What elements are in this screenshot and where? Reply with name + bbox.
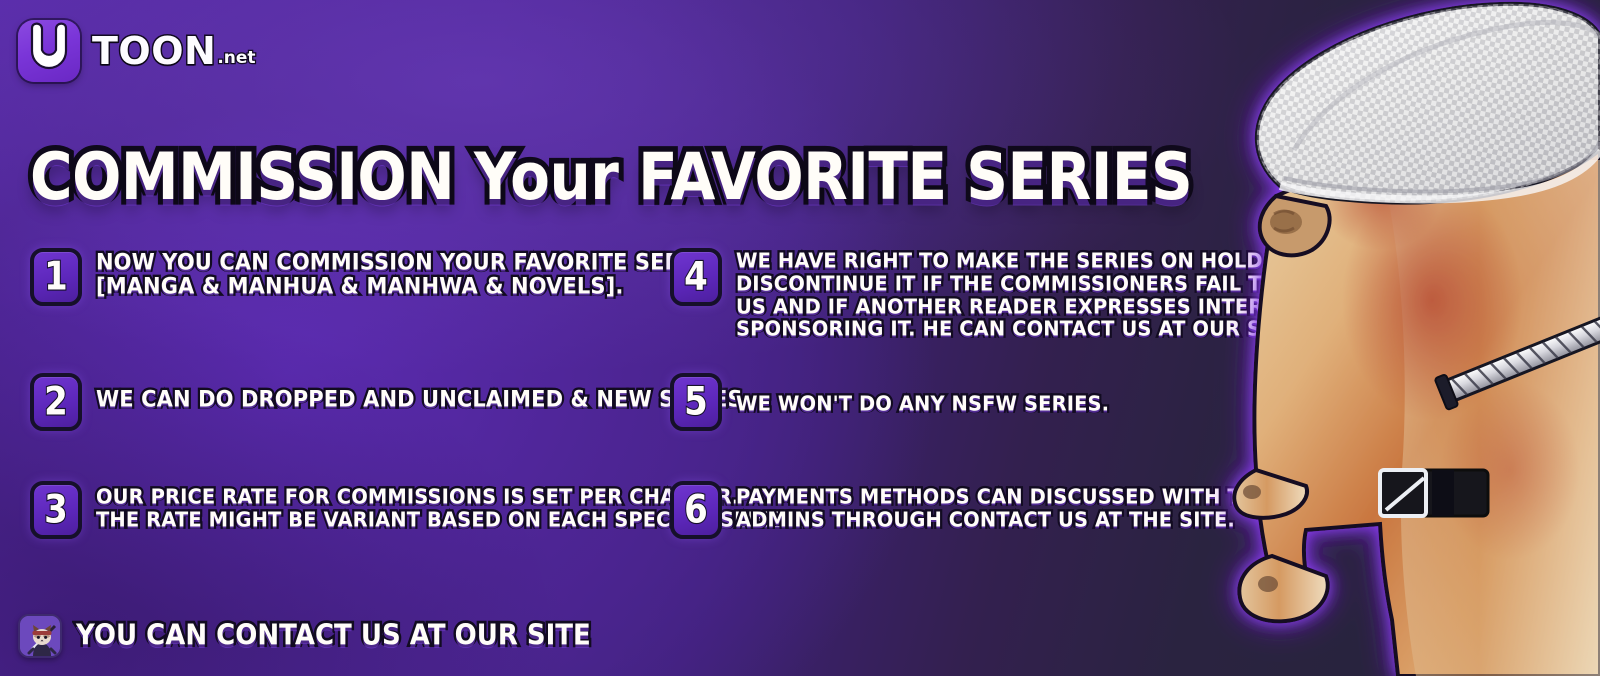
list-item: 5 WE WON'T DO ANY NSFW SERIES. <box>670 373 1109 431</box>
item-line: NOW YOU CAN COMMISSION YOUR FAVORITE SER… <box>96 250 718 275</box>
item-line: [MANGA & MANHUA & MANHWA & NOVELS]. <box>96 274 718 299</box>
toon-crescent-logo-icon <box>18 20 80 82</box>
item-text: WE HAVE RIGHT TO MAKE THE SERIES ON HOLD… <box>736 248 1335 341</box>
site-logo[interactable]: TOON .net <box>18 20 256 82</box>
list-item: 6 PAYMENTS METHODS CAN DISCUSSED WITH TH… <box>670 481 1271 539</box>
commission-banner: TOON .net COMMISSION Your FAVORITE SERIE… <box>0 0 1600 676</box>
item-number-badge: 4 <box>670 248 722 306</box>
title-part-3: FAVORITE SERIES <box>618 138 1192 214</box>
item-text: WE WON'T DO ANY NSFW SERIES. <box>736 373 1109 416</box>
item-text: NOW YOU CAN COMMISSION YOUR FAVORITE SER… <box>96 248 718 298</box>
item-text: WE CAN DO DROPPED AND UNCLAIMED & NEW SE… <box>96 373 751 412</box>
list-item: 4 WE HAVE RIGHT TO MAKE THE SERIES ON HO… <box>670 248 1335 341</box>
item-number-badge: 3 <box>30 481 82 539</box>
title-part-2: Your <box>474 138 618 214</box>
item-number-badge: 5 <box>670 373 722 431</box>
logo-name: TOON <box>92 32 216 70</box>
item-number-badge: 1 <box>30 248 82 306</box>
logo-tld: .net <box>217 50 255 67</box>
item-number: 6 <box>684 490 708 529</box>
item-line: WE CAN DO DROPPED AND UNCLAIMED & NEW SE… <box>96 387 751 412</box>
item-number-badge: 2 <box>30 373 82 431</box>
samurai-cat-avatar-icon <box>18 614 62 658</box>
logo-wordmark: TOON .net <box>92 32 256 70</box>
item-number-badge: 6 <box>670 481 722 539</box>
item-line: WE HAVE RIGHT TO MAKE THE SERIES ON HOLD… <box>736 249 1335 273</box>
item-line: ADMINS THROUGH CONTACT US AT THE SITE. <box>736 508 1271 532</box>
item-number: 3 <box>44 490 68 529</box>
item-number: 5 <box>684 382 708 421</box>
list-item: 1 NOW YOU CAN COMMISSION YOUR FAVORITE S… <box>30 248 718 306</box>
item-number: 1 <box>44 257 68 296</box>
page-title: COMMISSION Your FAVORITE SERIES <box>30 144 1192 209</box>
list-item: 2 WE CAN DO DROPPED AND UNCLAIMED & NEW … <box>30 373 751 431</box>
item-text: PAYMENTS METHODS CAN DISCUSSED WITH THE … <box>736 481 1271 532</box>
footer-contact[interactable]: YOU CAN CONTACT US AT OUR SITE <box>18 614 591 658</box>
title-part-1: COMMISSION <box>30 138 474 214</box>
footer-contact-label: YOU CAN CONTACT US AT OUR SITE <box>76 620 591 652</box>
item-number: 2 <box>44 382 68 421</box>
item-number: 4 <box>684 257 708 296</box>
item-line: SPONSORING IT. HE CAN CONTACT US AT OUR … <box>736 318 1335 342</box>
item-line: WE WON'T DO ANY NSFW SERIES. <box>736 392 1109 416</box>
item-line: PAYMENTS METHODS CAN DISCUSSED WITH THE <box>736 485 1271 509</box>
item-line: DISCONTINUE IT IF THE COMMISSIONERS FAIL… <box>736 272 1335 296</box>
